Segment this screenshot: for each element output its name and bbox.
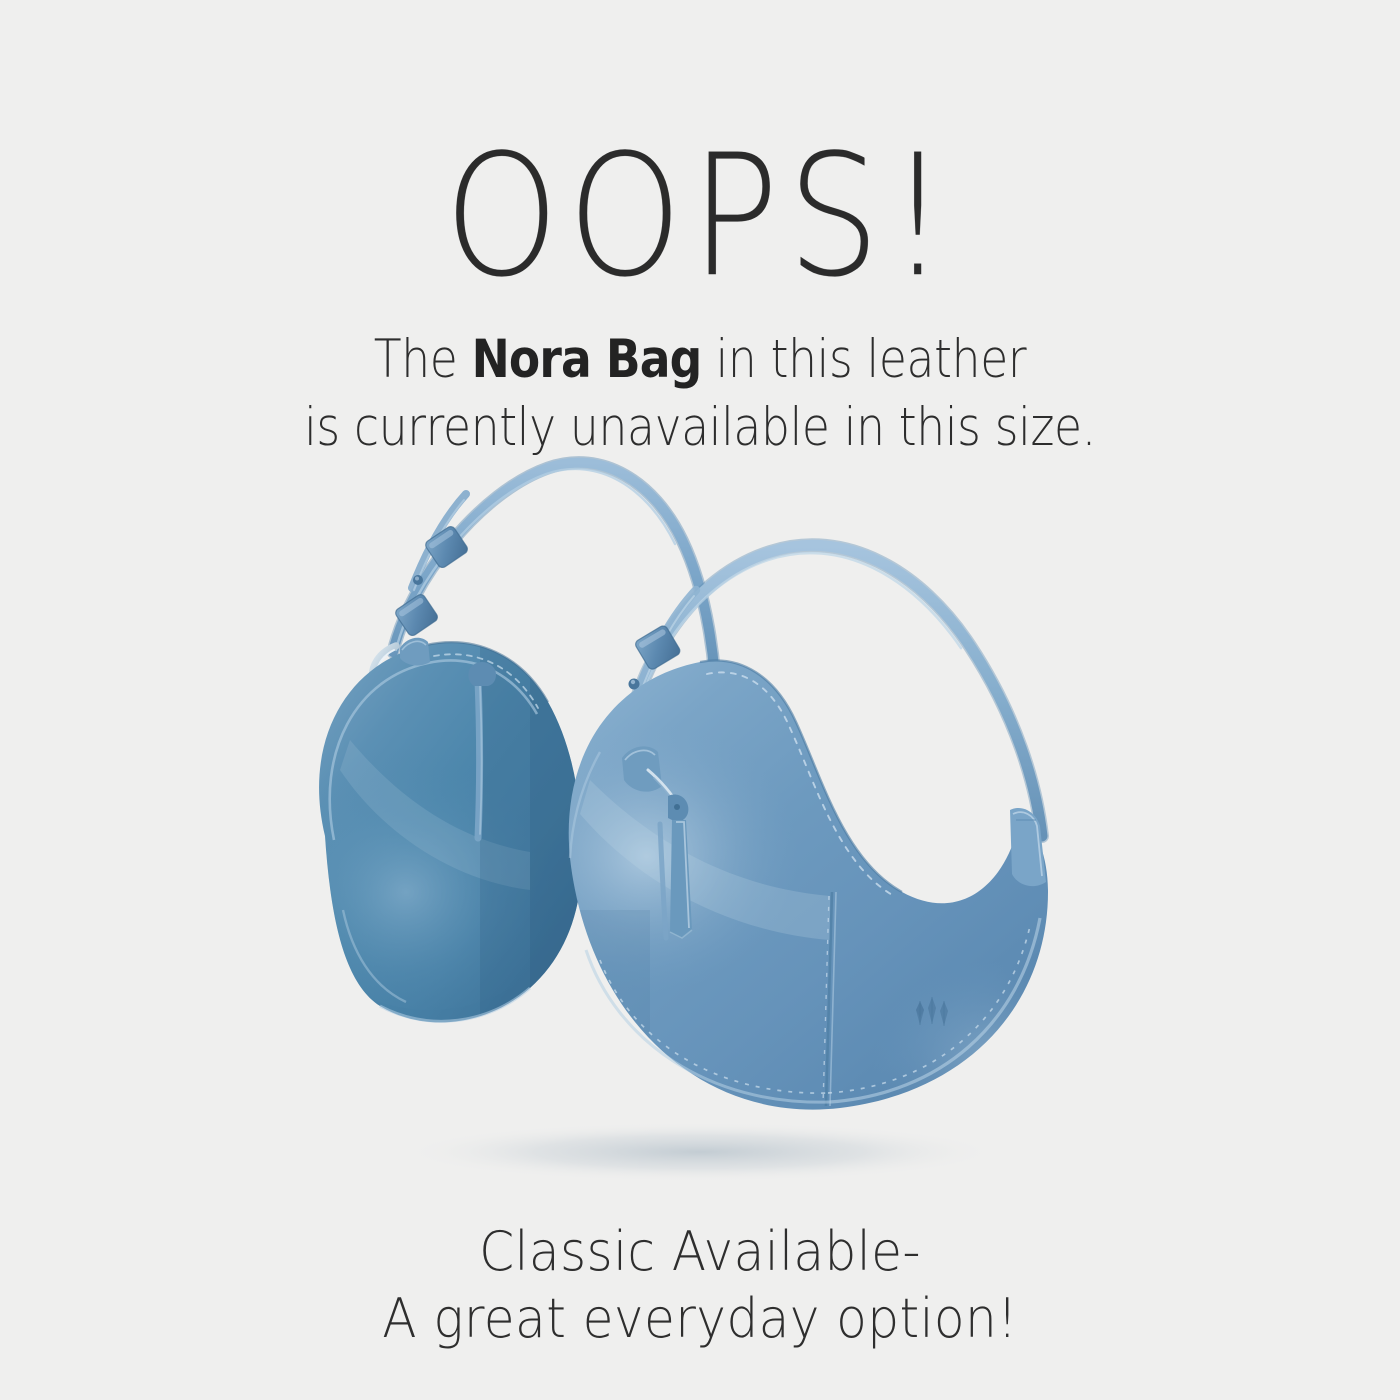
error-page: OOPS! The Nora Bag in this leather is cu… (0, 0, 1400, 1400)
product-name: Nora Bag (472, 329, 702, 390)
unavailable-message-line1: The Nora Bag in this leather (98, 326, 1302, 394)
message-suffix: in this leather (701, 329, 1026, 390)
back-bag-strap-tab (400, 638, 430, 666)
product-ground-shadow (400, 1122, 1000, 1182)
availability-caption-line1: Classic Available- (49, 1218, 1351, 1285)
availability-caption-line2: A great everyday option! (49, 1285, 1351, 1352)
message-prefix: The (374, 329, 472, 390)
page-title: OOPS! (21, 133, 1379, 301)
product-image (230, 440, 1190, 1230)
availability-caption: Classic Available- A great everyday opti… (49, 1218, 1351, 1352)
